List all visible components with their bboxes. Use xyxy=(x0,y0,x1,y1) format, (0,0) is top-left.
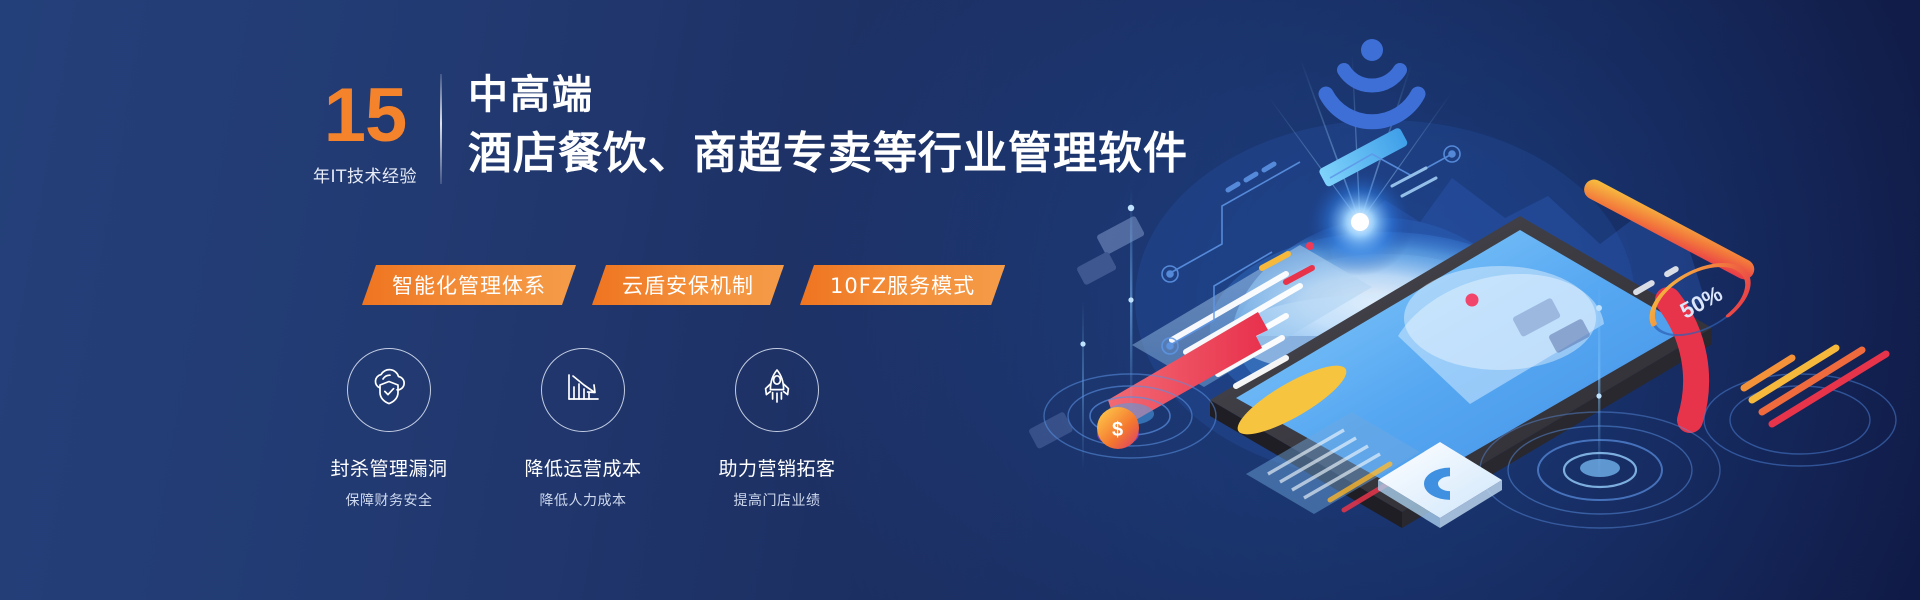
feature-subtitle-2: 降低人力成本 xyxy=(540,490,627,510)
dollar-coin-icon: $ xyxy=(1097,407,1139,449)
feature-title-3: 助力营销拓客 xyxy=(719,454,836,481)
svg-text:$: $ xyxy=(1112,419,1123,441)
feature-item-security[interactable]: 封杀管理漏洞 保障财务安全 xyxy=(340,348,438,510)
feature-icon-circle-1 xyxy=(347,348,431,432)
feature-tag-1[interactable]: 智能化管理体系 xyxy=(362,265,576,305)
feature-item-marketing[interactable]: 助力营销拓客 提高门店业绩 xyxy=(728,348,826,510)
promo-banner: 50% $ xyxy=(0,0,1920,600)
feature-tag-list: 智能化管理体系 云盾安保机制 10FZ服务模式 xyxy=(362,265,1005,305)
wifi-signal-icon xyxy=(1326,39,1418,122)
feature-subtitle-1: 保障财务安全 xyxy=(346,490,433,510)
years-number: 15 xyxy=(300,78,430,154)
headline: 中高端 酒店餐饮、商超专卖等行业管理软件 xyxy=(468,70,1188,182)
feature-list: 封杀管理漏洞 保障财务安全 xyxy=(340,348,826,510)
feature-tag-3-label: 10FZ服务模式 xyxy=(830,270,975,300)
headline-divider xyxy=(440,74,442,184)
feature-tag-2-label: 云盾安保机制 xyxy=(622,270,754,300)
feature-tag-1-label: 智能化管理体系 xyxy=(392,270,546,300)
headline-line-2: 酒店餐饮、商超专卖等行业管理软件 xyxy=(468,126,1188,182)
years-badge: 15 年IT技术经验 xyxy=(300,78,430,187)
feature-title-2: 降低运营成本 xyxy=(525,454,642,481)
rocket-icon xyxy=(756,367,798,414)
feature-tag-3[interactable]: 10FZ服务模式 xyxy=(800,265,1005,305)
feature-icon-circle-2 xyxy=(541,348,625,432)
cloud-shield-check-icon xyxy=(367,368,411,413)
feature-subtitle-3: 提高门店业绩 xyxy=(734,490,821,510)
feature-tag-2[interactable]: 云盾安保机制 xyxy=(592,265,784,305)
headline-line-1: 中高端 xyxy=(468,70,1188,120)
feature-icon-circle-3 xyxy=(735,348,819,432)
hero-text-block: 15 年IT技术经验 中高端 酒店餐饮、商超专卖等行业管理软件 智能化管理体系 … xyxy=(300,70,1080,470)
declining-bar-chart-icon xyxy=(562,369,604,412)
years-caption: 年IT技术经验 xyxy=(300,162,430,187)
feature-title-1: 封杀管理漏洞 xyxy=(331,454,448,481)
feature-item-cost[interactable]: 降低运营成本 降低人力成本 xyxy=(534,348,632,510)
